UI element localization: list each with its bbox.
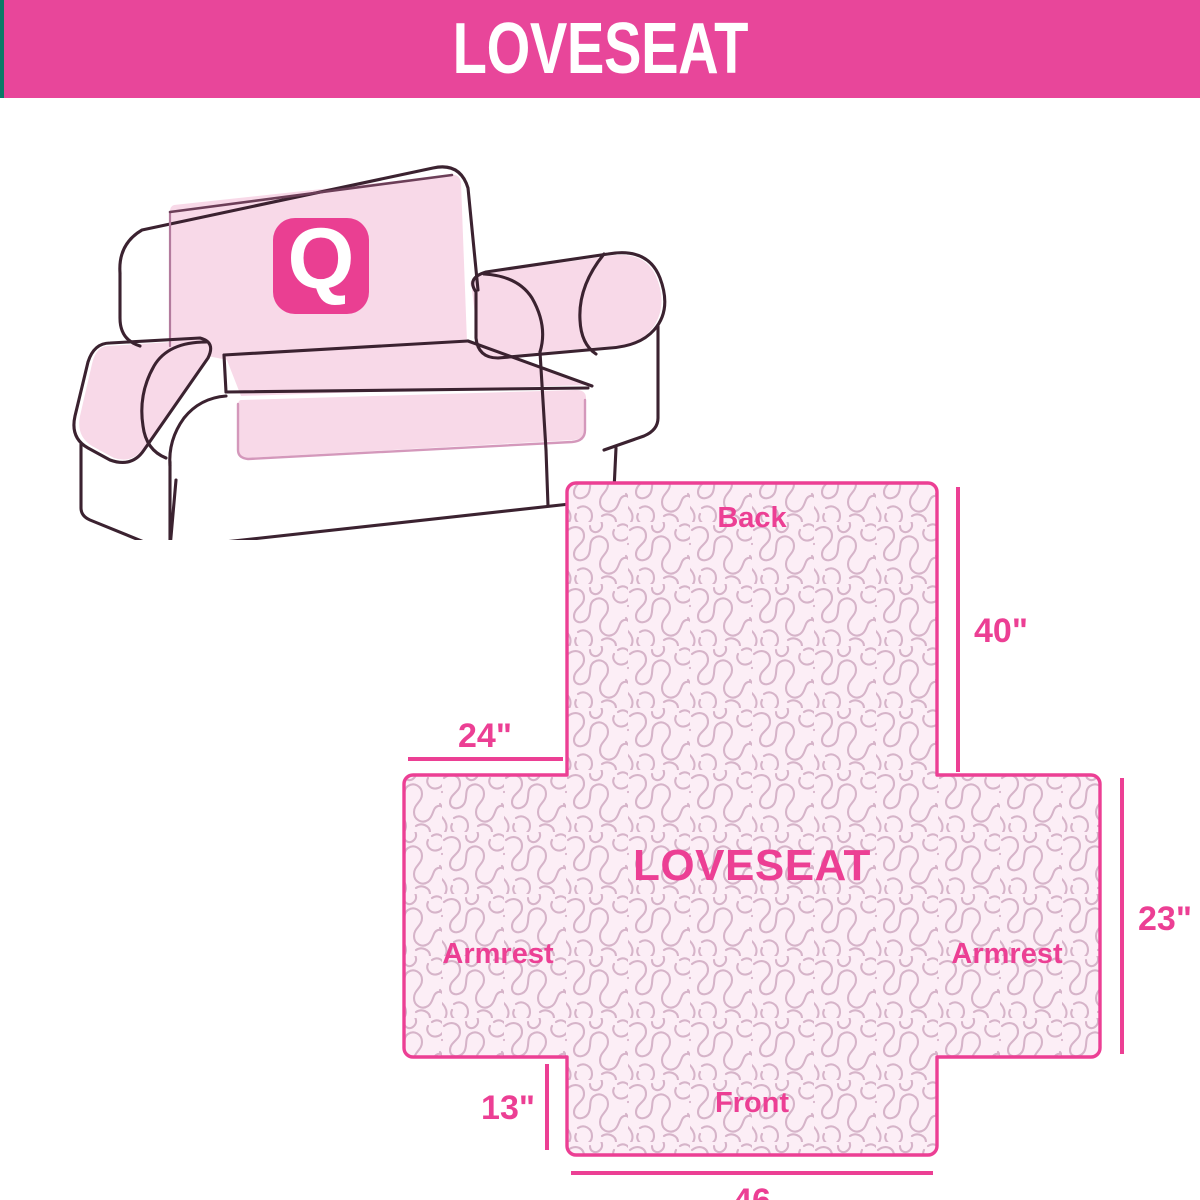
dimension-seat-depth: 23" xyxy=(1122,778,1192,1054)
backrest-left-edge xyxy=(120,273,140,346)
dimension-label-40: 40" xyxy=(974,612,1028,650)
seat-front-fill xyxy=(238,390,586,458)
dimension-label-46: 46 xyxy=(733,1182,771,1200)
dimension-label-23: 23" xyxy=(1138,900,1192,938)
panel-label-back: Back xyxy=(717,502,787,534)
dimension-armrest-width: 24" xyxy=(408,717,563,759)
left-arm-inner-scroll2 xyxy=(170,396,226,466)
dimension-total-width: 46 xyxy=(571,1173,933,1200)
dimension-label-13: 13" xyxy=(481,1089,535,1127)
dimension-label-24: 24" xyxy=(458,717,512,755)
brand-badge: Q xyxy=(273,211,369,314)
dimension-back-height: 40" xyxy=(958,487,1028,772)
page-title: LOVESEAT xyxy=(452,13,747,85)
dimension-front-drop: 13" xyxy=(481,1064,547,1150)
brand-badge-letter: Q xyxy=(288,211,355,307)
header-banner: LOVESEAT xyxy=(0,0,1200,98)
product-dimension-infographic: LOVESEAT xyxy=(0,0,1200,1200)
diagram-center-title: LOVESEAT xyxy=(633,841,871,890)
panel-label-front: Front xyxy=(715,1087,789,1119)
panel-label-armrest-left: Armrest xyxy=(442,938,554,970)
header-accent-stripe xyxy=(0,0,4,98)
panel-label-armrest-right: Armrest xyxy=(951,938,1063,970)
seat-cushion-left-edge xyxy=(224,355,226,392)
cover-quilt-texture xyxy=(404,483,1100,1155)
cover-layout-diagram: Back LOVESEAT Armrest Armrest Front 40" … xyxy=(380,460,1200,1200)
cover-shape xyxy=(404,483,1100,1155)
